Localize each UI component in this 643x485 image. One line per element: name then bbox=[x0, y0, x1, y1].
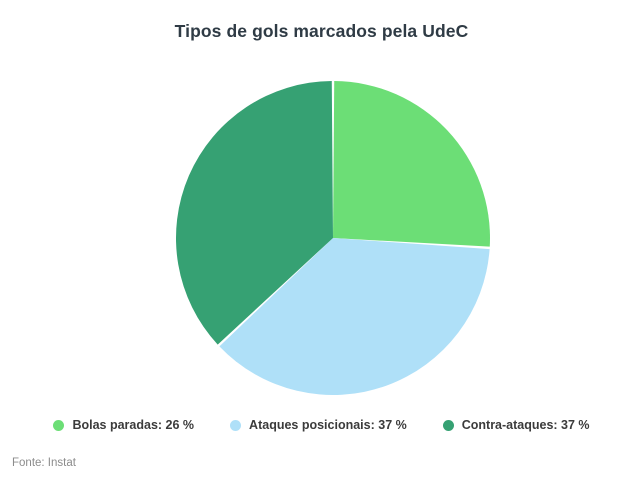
pie-slice-group bbox=[176, 81, 490, 395]
legend-item-bolas-paradas[interactable]: Bolas paradas: 26 % bbox=[53, 418, 194, 432]
pie-slice[interactable] bbox=[333, 81, 490, 247]
legend-swatch-icon-bolas-paradas bbox=[53, 420, 64, 431]
pie-svg bbox=[0, 60, 643, 410]
chart-legend: Bolas paradas: 26 % Ataques posicionais:… bbox=[0, 418, 643, 432]
legend-label-ataques-posicionais: Ataques posicionais: 37 % bbox=[249, 418, 407, 432]
page-title: Tipos de gols marcados pela UdeC bbox=[0, 21, 643, 42]
legend-label-bolas-paradas: Bolas paradas: 26 % bbox=[72, 418, 194, 432]
legend-swatch-icon-contra-ataques bbox=[443, 420, 454, 431]
legend-item-ataques-posicionais[interactable]: Ataques posicionais: 37 % bbox=[230, 418, 407, 432]
source-caption: Fonte: Instat bbox=[12, 457, 76, 469]
pie-plot-area bbox=[0, 60, 643, 410]
legend-swatch-icon-ataques-posicionais bbox=[230, 420, 241, 431]
pie-chart-card: Tipos de gols marcados pela UdeC Bolas p… bbox=[0, 0, 643, 485]
legend-label-contra-ataques: Contra-ataques: 37 % bbox=[462, 418, 590, 432]
legend-item-contra-ataques[interactable]: Contra-ataques: 37 % bbox=[443, 418, 590, 432]
